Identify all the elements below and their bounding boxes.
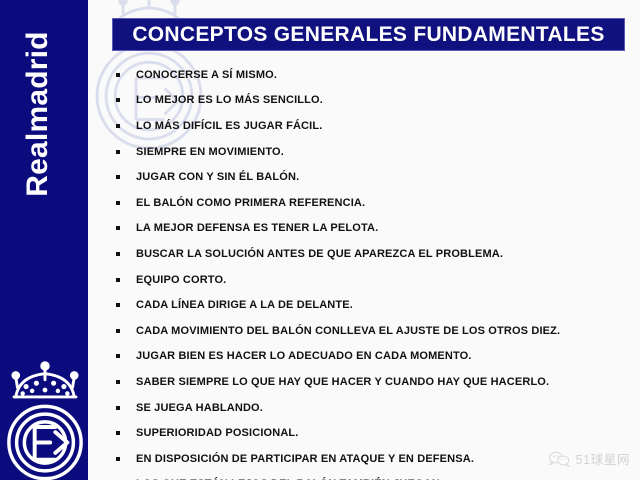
list-item: SABER SIEMPRE LO QUE HAY QUE HACER Y CUA… [112, 369, 628, 395]
square-bullet-icon [116, 150, 120, 154]
list-item: EQUIPO CORTO. [112, 267, 628, 293]
list-item: JUGAR BIEN ES HACER LO ADECUADO EN CADA … [112, 344, 628, 370]
list-item-label: SIEMPRE EN MOVIMIENTO. [136, 146, 284, 158]
list-item: CADA LÍNEA DIRIGE A LA DE DELANTE. [112, 292, 628, 318]
list-item-label: BUSCAR LA SOLUCIÓN ANTES DE QUE APAREZCA… [136, 248, 503, 260]
list-item: JUGAR CON Y SIN ÉL BALÓN. [112, 164, 628, 190]
list-item-label: CADA MOVIMIENTO DEL BALÓN CONLLEVA EL AJ… [136, 325, 560, 337]
square-bullet-icon [116, 175, 120, 179]
square-bullet-icon [116, 201, 120, 205]
square-bullet-icon [116, 354, 120, 358]
square-bullet-icon [116, 406, 120, 410]
list-item-label: JUGAR CON Y SIN ÉL BALÓN. [136, 171, 299, 183]
list-item: LOS QUE ESTÁN LEJOS DEL BALÓN TAMBIÉN JU… [112, 472, 628, 480]
list-item-label: LO MEJOR ES LO MÁS SENCILLO. [136, 94, 323, 106]
square-bullet-icon [116, 380, 120, 384]
list-item-label: SABER SIEMPRE LO QUE HAY QUE HACER Y CUA… [136, 376, 549, 388]
real-madrid-crest-icon [2, 356, 88, 480]
list-item-label: CONOCERSE A SÍ MISMO. [136, 69, 277, 81]
list-item-label: SUPERIORIDAD POSICIONAL. [136, 427, 299, 439]
brand-name-label: Realmadrid [16, 6, 60, 222]
square-bullet-icon [116, 329, 120, 333]
square-bullet-icon [116, 431, 120, 435]
site-watermark: 51球星网 [547, 449, 630, 468]
list-item-label: CADA LÍNEA DIRIGE A LA DE DELANTE. [136, 299, 353, 311]
square-bullet-icon [116, 278, 120, 282]
page-title: CONCEPTOS GENERALES FUNDAMENTALES [132, 23, 604, 47]
watermark-label: 51球星网 [576, 449, 630, 468]
square-bullet-icon [116, 124, 120, 128]
list-item: CONOCERSE A SÍ MISMO. [112, 62, 628, 88]
wechat-icon [547, 451, 571, 467]
square-bullet-icon [116, 73, 120, 77]
list-item-label: EQUIPO CORTO. [136, 274, 226, 286]
list-item: LA MEJOR DEFENSA ES TENER LA PELOTA. [112, 216, 628, 242]
square-bullet-icon [116, 252, 120, 256]
list-item: SIEMPRE EN MOVIMIENTO. [112, 139, 628, 165]
concepts-bullet-list: CONOCERSE A SÍ MISMO. LO MEJOR ES LO MÁS… [112, 62, 628, 480]
list-item: EL BALÓN COMO PRIMERA REFERENCIA. [112, 190, 628, 216]
list-item: LO MÁS DIFÍCIL ES JUGAR FÁCIL. [112, 113, 628, 139]
list-item-label: LA MEJOR DEFENSA ES TENER LA PELOTA. [136, 222, 378, 234]
list-item-label: LO MÁS DIFÍCIL ES JUGAR FÁCIL. [136, 120, 322, 132]
square-bullet-icon [116, 303, 120, 307]
square-bullet-icon [116, 98, 120, 102]
list-item: SUPERIORIDAD POSICIONAL. [112, 420, 628, 446]
slide-canvas: Realmadrid [0, 0, 640, 480]
list-item: LO MEJOR ES LO MÁS SENCILLO. [112, 88, 628, 114]
square-bullet-icon [116, 457, 120, 461]
list-item-label: JUGAR BIEN ES HACER LO ADECUADO EN CADA … [136, 350, 472, 362]
list-item: SE JUEGA HABLANDO. [112, 395, 628, 421]
list-item-label: EN DISPOSICIÓN DE PARTICIPAR EN ATAQUE Y… [136, 453, 474, 465]
list-item: CADA MOVIMIENTO DEL BALÓN CONLLEVA EL AJ… [112, 318, 628, 344]
list-item-label: SE JUEGA HABLANDO. [136, 402, 263, 414]
list-item: BUSCAR LA SOLUCIÓN ANTES DE QUE APAREZCA… [112, 241, 628, 267]
slide-title-bar: CONCEPTOS GENERALES FUNDAMENTALES [112, 18, 625, 51]
square-bullet-icon [116, 226, 120, 230]
left-brand-sidebar: Realmadrid [0, 0, 88, 480]
list-item-label: EL BALÓN COMO PRIMERA REFERENCIA. [136, 197, 365, 209]
